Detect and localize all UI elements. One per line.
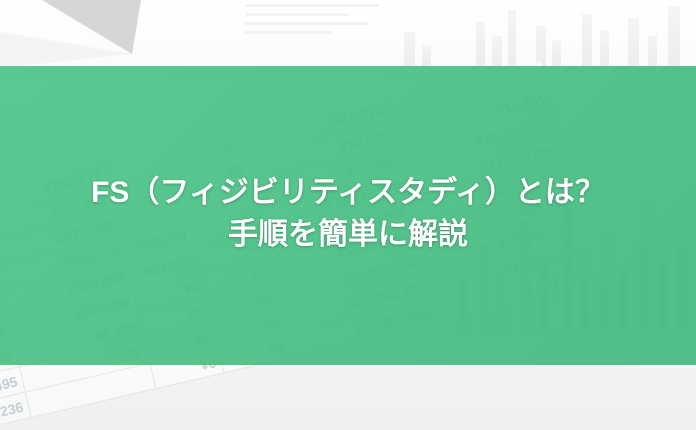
paper-corner-shape [0,0,150,68]
chart-bar [508,10,516,66]
thumbnail-image: ¥1,153,935¥556,277¥0¥10,823¥953,643¥912,… [0,0,696,430]
document-text-lines [245,4,385,60]
chart-bar [492,36,502,66]
page-title: FS（フィジビリティスタディ）とは？ 手順を簡単に解説 [0,172,696,256]
chart-bar [404,32,415,66]
title-line-1: FS（フィジビリティスタディ）とは？ [0,172,696,214]
chart-bar [422,45,431,66]
title-line-2: 手順を簡単に解説 [0,214,696,256]
chart-bar [476,22,485,66]
